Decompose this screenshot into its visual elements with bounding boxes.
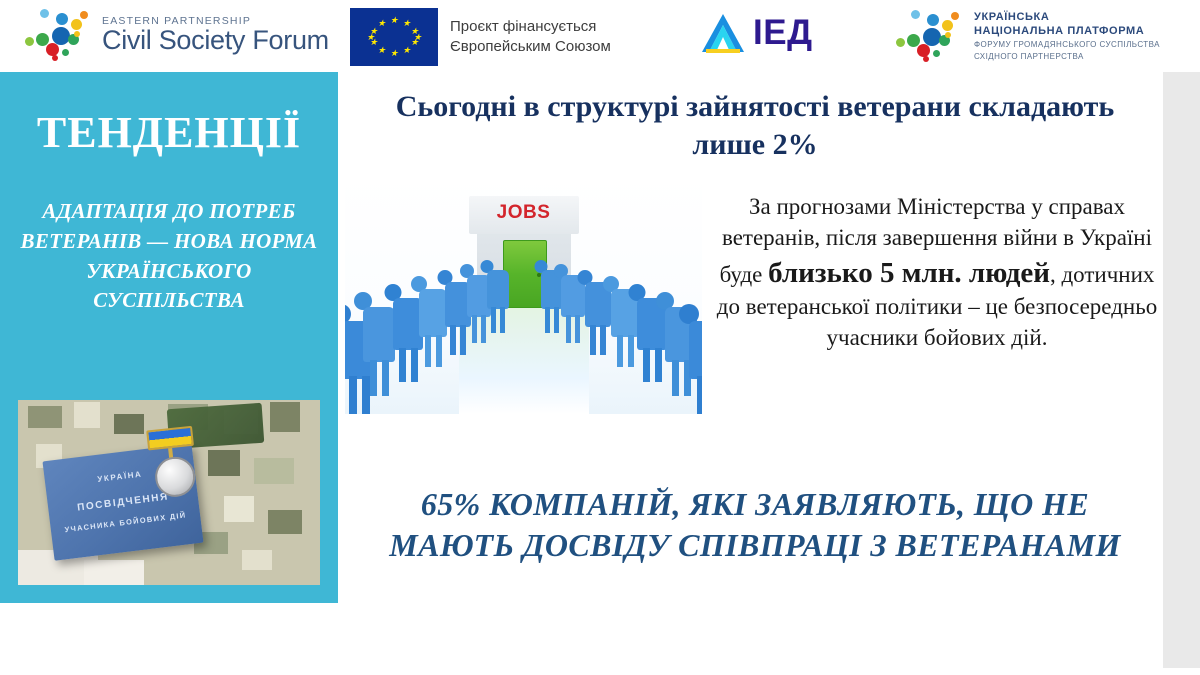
unp-line3: ФОРУМУ ГРОМАДЯНСЬКОГО СУСПІЛЬСТВА [974,39,1160,51]
panel-title: ТЕНДЕНЦІЇ [0,107,338,158]
jobs-green-door [503,240,547,308]
eu-funding-text: Проєкт фінансується Європейським Союзом [450,17,611,58]
unp-line4: СХІДНОГО ПАРТНЕРСТВА [974,51,1160,63]
logo-eap-text: EASTERN PARTNERSHIP Civil Society Forum [102,16,329,55]
triangle-icon [700,12,746,54]
veteran-id-photo: УКРАЇНА ПОСВІДЧЕННЯ УЧАСНИКА БОЙОВИХ ДІЙ [18,400,320,585]
unp-line2: НАЦІОНАЛЬНА ПЛАТФОРМА [974,24,1160,39]
logo-ied-label: ІЕД [753,13,813,53]
logo-ukrainian-national-platform: УКРАЇНСЬКА НАЦІОНАЛЬНА ПЛАТФОРМА ФОРУМУ … [893,6,1160,66]
jobs-sign-text: JOBS [469,202,579,224]
forecast-emphasis: близько 5 млн. людей [768,257,1050,289]
eu-funding-line1: Проєкт фінансується [450,18,596,35]
jobs-queue-image: JOBS [345,176,702,414]
logo-european-union: ★ ★ ★ ★ ★ ★ ★ ★ ★ ★ ★ ★ Проєкт фінансуєт… [350,8,611,66]
dot-star-icon [22,5,94,65]
logo-eap-mainline: Civil Society Forum [102,27,329,54]
ukrainian-medal-icon [142,425,204,506]
dot-star-icon-unp [893,6,965,66]
logo-ied: ІЕД [700,12,813,54]
logo-bar: EASTERN PARTNERSHIP Civil Society Forum … [0,0,1200,72]
logo-unp-text: УКРАЇНСЬКА НАЦІОНАЛЬНА ПЛАТФОРМА ФОРУМУ … [974,10,1160,63]
forecast-paragraph: За прогнозами Міністерства у справах вет… [712,192,1162,354]
main-headline: Сьогодні в структурі зайнятості ветерани… [360,88,1150,165]
panel-subtitle: АДАПТАЦІЯ ДО ПОТРЕБ ВЕТЕРАНІВ — НОВА НОР… [20,197,318,316]
medal-ribbon [146,426,194,451]
eu-funding-line2: Європейським Союзом [450,38,611,55]
bottom-statement: 65% КОМПАНІЙ, ЯКІ ЗАЯВЛЯЮТЬ, ЩО НЕ МАЮТЬ… [355,484,1155,567]
medal-disc [153,455,197,499]
right-side-panel [1163,68,1200,668]
unp-line1: УКРАЇНСЬКА [974,10,1160,25]
logo-eap-civil-society-forum: EASTERN PARTNERSHIP Civil Society Forum [22,5,329,65]
presentation-slide: EASTERN PARTNERSHIP Civil Society Forum … [0,0,1200,675]
eu-flag-icon: ★ ★ ★ ★ ★ ★ ★ ★ ★ ★ ★ ★ [350,8,438,66]
